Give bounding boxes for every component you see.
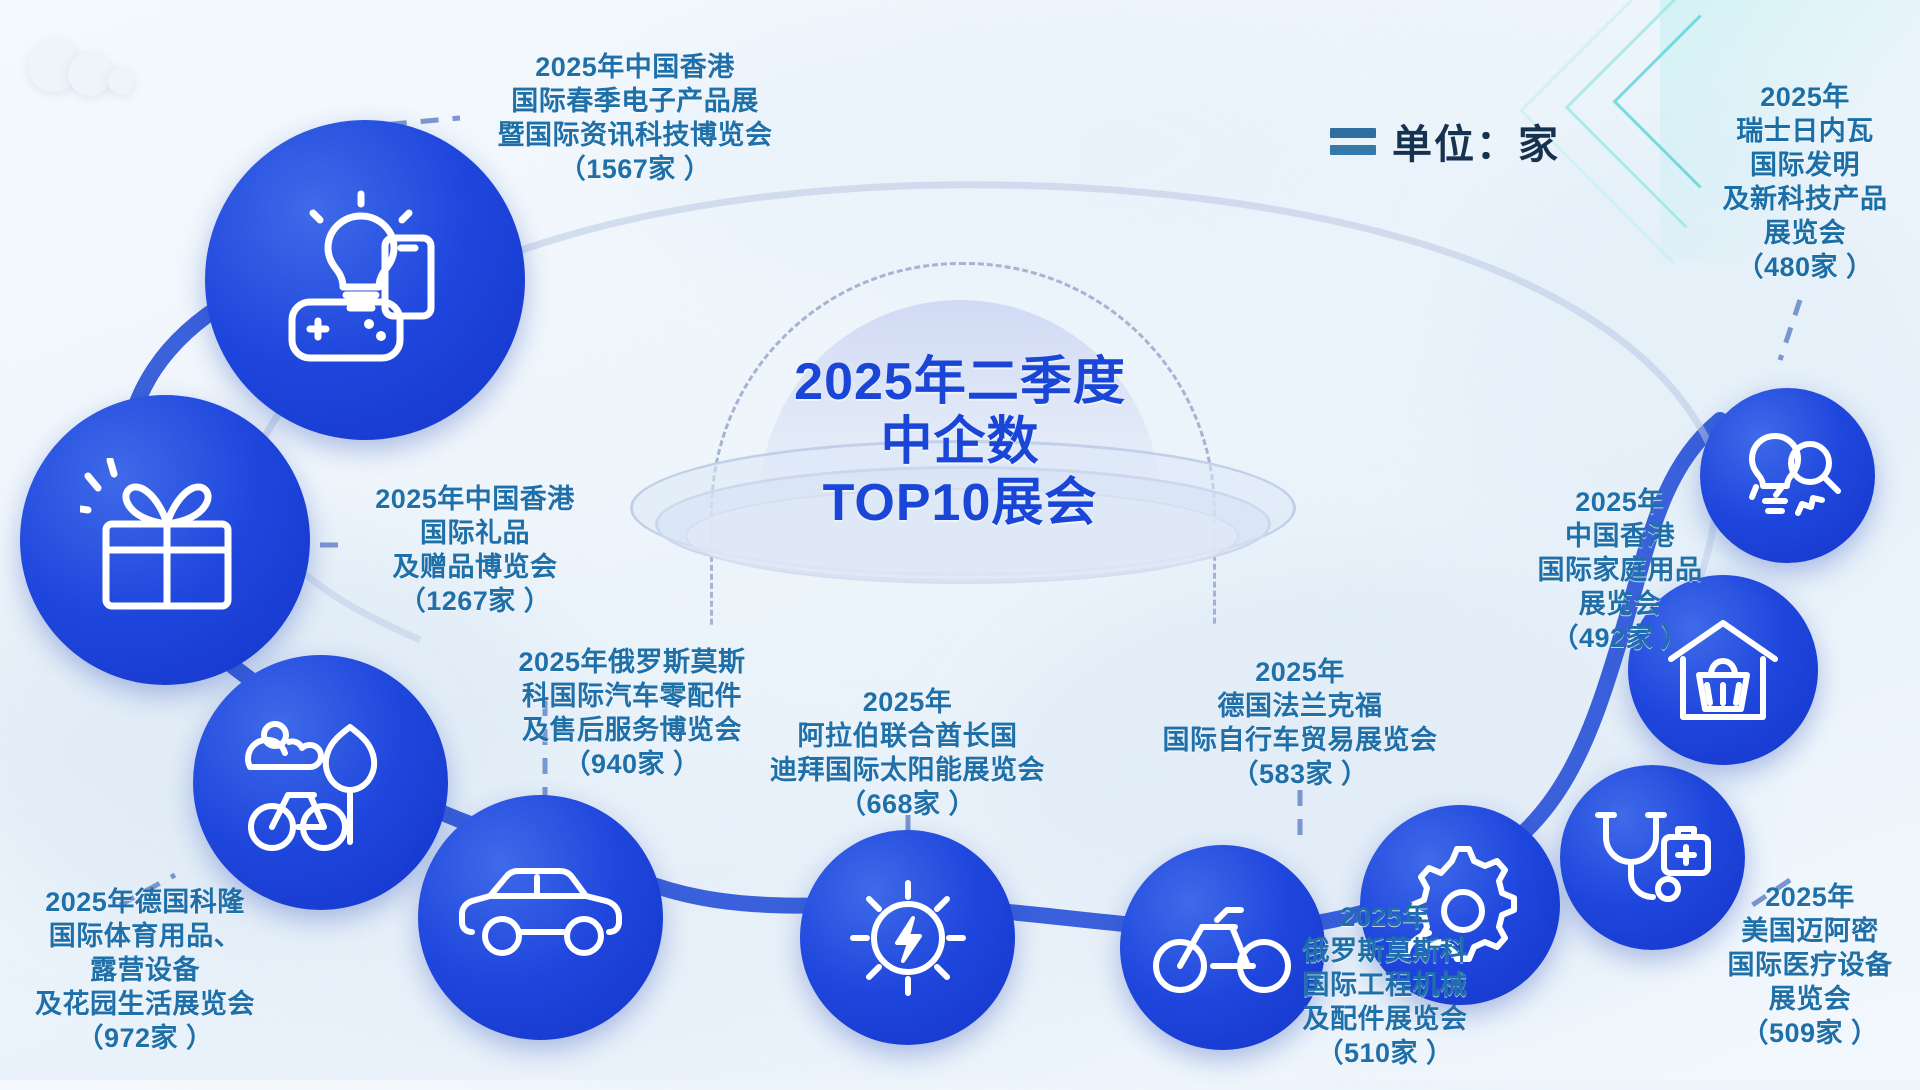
car-icon (458, 860, 623, 975)
title-line-1: 2025年二季度 (600, 352, 1320, 412)
title-line-2: 中企数 (600, 412, 1320, 472)
label-moscow-machinery: 2025年 俄罗斯莫斯科 国际工程机械 及配件展览会 （510家 ） (1240, 900, 1530, 1070)
deco-circle-medium (68, 52, 112, 96)
label-geneva-invention: 2025年 瑞士日内瓦 国际发明 及新科技产品 展览会 （480家 ） (1690, 80, 1920, 284)
legend: 单位：家 (1330, 112, 1560, 170)
deco-circle-small (108, 68, 134, 94)
label-cologne-sports: 2025年德国科隆 国际体育用品、 露营设备 及花园生活展览会 （972家 ） (0, 885, 290, 1055)
lightbulb-phone-gamepad-icon (270, 190, 460, 370)
title-line-3: TOP10展会 (600, 473, 1320, 533)
label-moscow-autoparts: 2025年俄罗斯莫斯 科国际汽车零配件 及售后服务博览会 （940家 ） (492, 645, 772, 781)
gift-box-icon (80, 458, 250, 623)
stethoscope-medical-kit-icon (1590, 803, 1715, 913)
label-hk-gifts: 2025年中国香港 国际礼品 及赠品博览会 （1267家 ） (330, 482, 620, 618)
label-miami-medical: 2025年 美国迈阿密 国际医疗设备 展览会 （509家 ） (1700, 880, 1920, 1050)
label-hk-houseware: 2025年 中国香港 国际家庭用品 展览会 （492家 ） (1500, 485, 1740, 655)
label-dubai-solar: 2025年 阿拉伯联合酋长国 迪拜国际太阳能展览会 （668家 ） (735, 685, 1080, 821)
bicycle-tree-cloud-icon (241, 708, 401, 858)
solar-energy-bolt-icon (843, 873, 973, 1003)
label-frankfurt-bicycle: 2025年 德国法兰克福 国际自行车贸易展览会 （583家 ） (1135, 655, 1465, 791)
node-dubai-solar[interactable] (800, 830, 1015, 1045)
label-hk-electronics: 2025年中国香港 国际春季电子产品展 暨国际资讯科技博览会 （1567家 ） (470, 50, 800, 186)
decorative-dots (10, 18, 160, 108)
legend-bars-icon (1330, 128, 1376, 155)
node-cologne-sports[interactable] (193, 655, 448, 910)
legend-label: 单位：家 (1392, 112, 1560, 170)
node-moscow-autoparts[interactable] (418, 795, 663, 1040)
lightbulb-magnifier-gear-icon (1730, 421, 1845, 531)
node-hk-gifts[interactable] (20, 395, 310, 685)
page-title: 2025年二季度 中企数 TOP10展会 (600, 352, 1320, 533)
